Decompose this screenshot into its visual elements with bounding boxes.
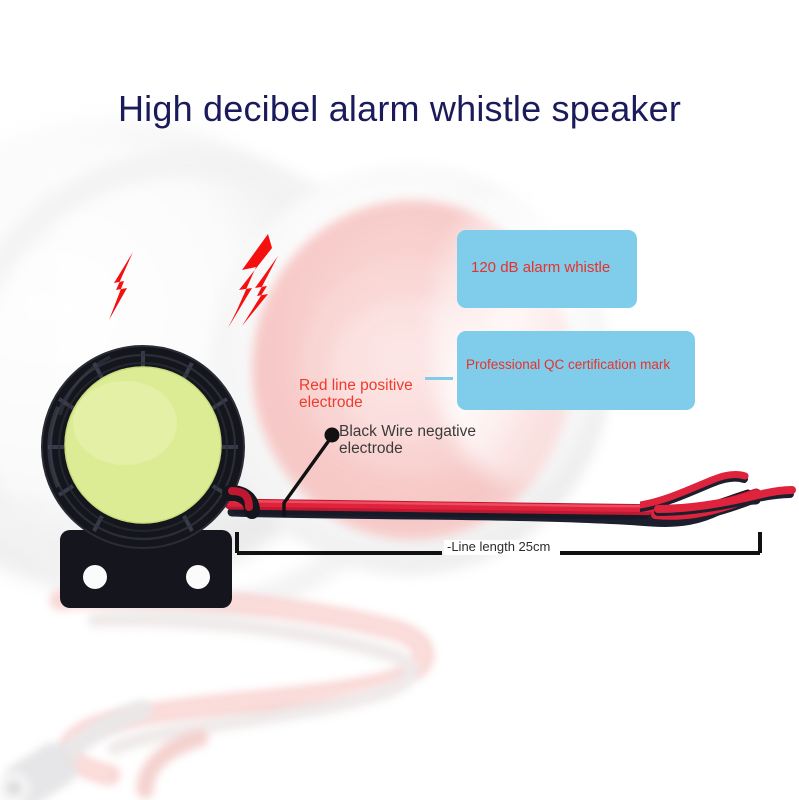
dimension-label: -Line length 25cm [444, 540, 553, 555]
callout-120db[interactable]: 120 dB alarm whistle [457, 230, 637, 308]
page-title: High decibel alarm whistle speaker [0, 88, 799, 130]
background-dc-connector [0, 700, 152, 800]
black-wire-leader-line [260, 415, 360, 520]
red-wire-label: Red line positive electrode [299, 377, 479, 412]
lightning-bolt-icon [105, 250, 147, 322]
alarm-whistle-speaker [40, 315, 290, 615]
callout-qc-certification[interactable]: Professional QC certification mark [457, 331, 695, 410]
black-wire-label: Black Wire negative electrode [339, 423, 539, 458]
product-infographic: High decibel alarm whistle speaker [0, 0, 799, 800]
mounting-hole-right [186, 565, 210, 589]
product-wire-tail [640, 470, 799, 530]
mounting-hole-left [83, 565, 107, 589]
leader-dot [325, 428, 340, 443]
